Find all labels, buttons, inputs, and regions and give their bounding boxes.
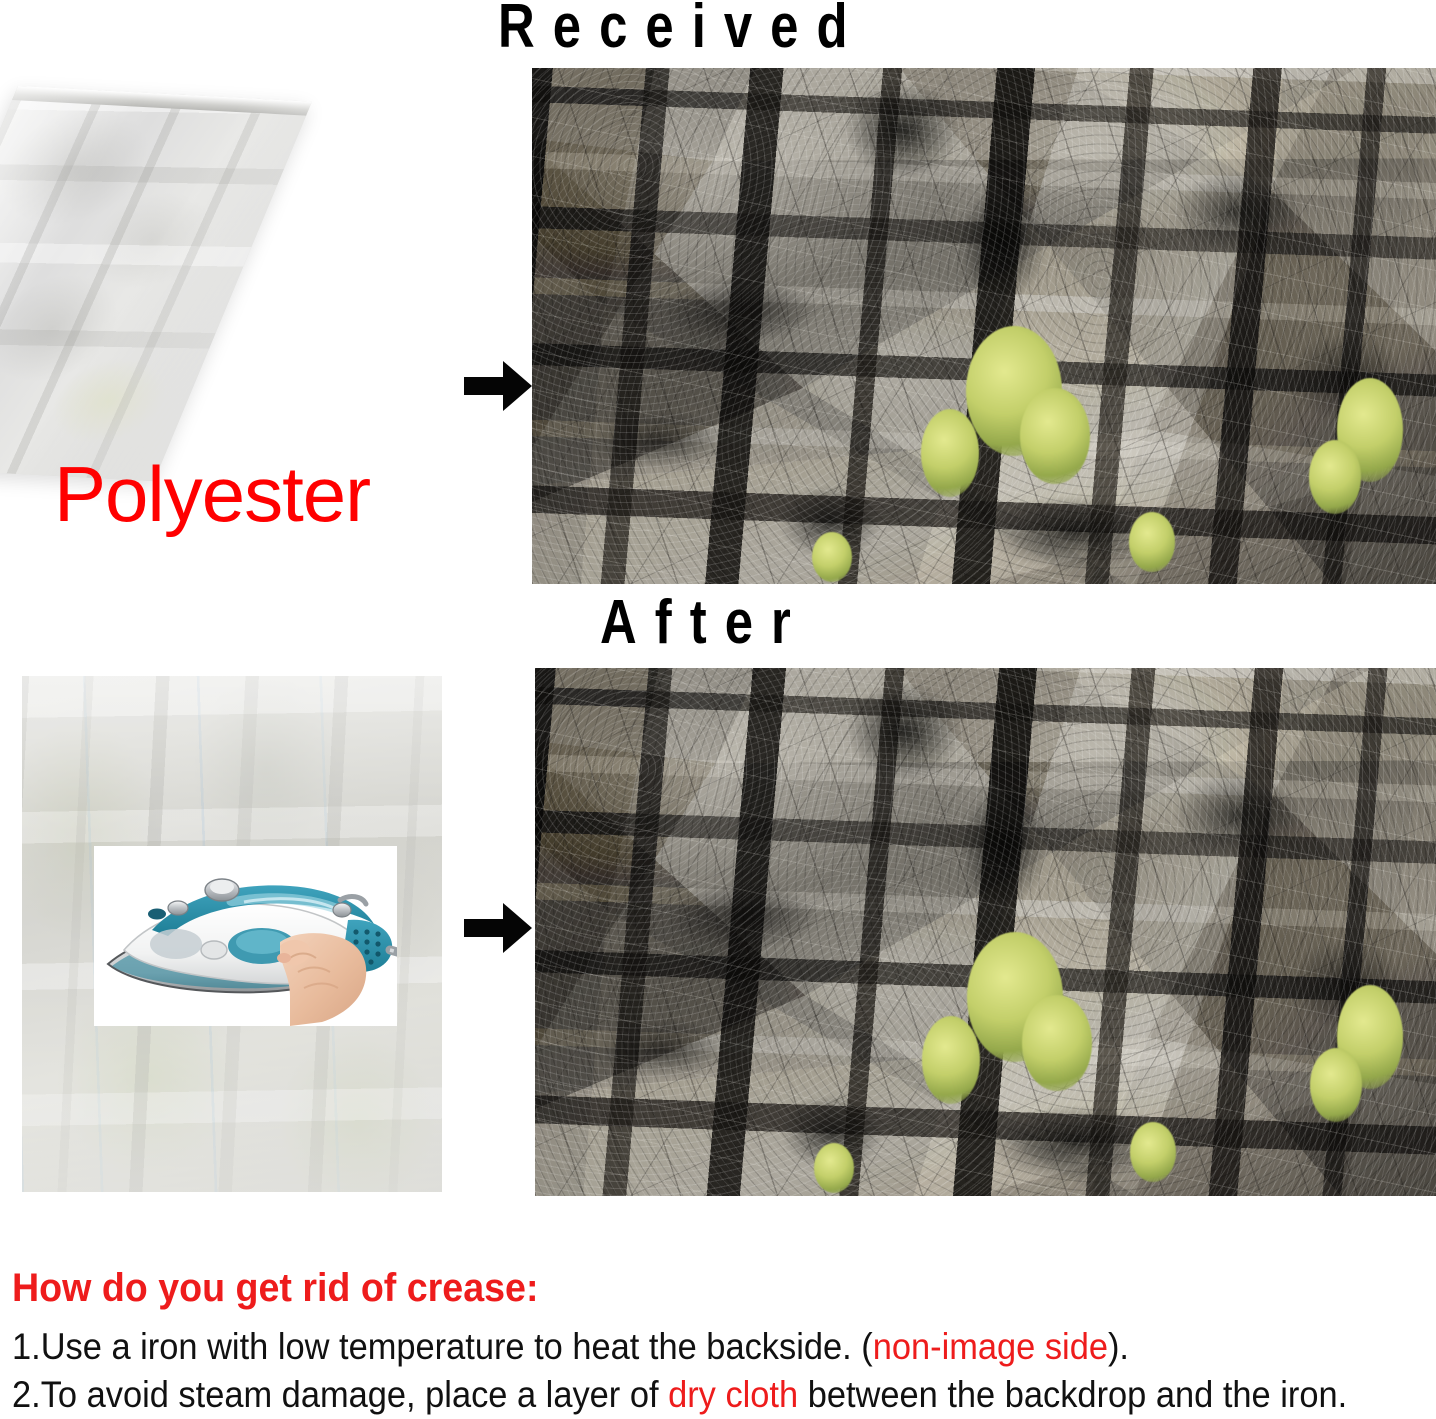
- fabric-fold: [0, 86, 312, 481]
- instruction-2-text-a: To avoid steam damage, place a layer of: [41, 1374, 668, 1415]
- iron-button: [168, 901, 188, 915]
- steam-iron-icon: [94, 846, 397, 1026]
- rock-grain-texture: [535, 668, 1436, 1196]
- iron-photo-inset: [94, 846, 397, 1026]
- fabric-sheen: [0, 86, 312, 481]
- instruction-line-1: 1.Use a iron with low temperature to hea…: [12, 1323, 1336, 1371]
- iron-steam-dial: [201, 941, 227, 959]
- instruction-2-text-b: between the backdrop and the iron.: [798, 1374, 1347, 1415]
- instruction-1-text-a: Use a iron with low temperature to heat …: [41, 1326, 873, 1367]
- instruction-2-highlight: dry cloth: [668, 1374, 798, 1415]
- received-backdrop-photo: [532, 68, 1436, 584]
- instruction-1-text-b: ).: [1108, 1326, 1129, 1367]
- instruction-2-number: 2.: [12, 1374, 41, 1415]
- arrow-right-icon: [462, 900, 534, 956]
- instruction-1-highlight: non-image side: [873, 1326, 1108, 1367]
- care-instructions: How do you get rid of crease: 1.Use a ir…: [12, 1266, 1436, 1419]
- polyester-label: Polyester: [54, 455, 370, 533]
- polyester-fabric-sample: [18, 86, 438, 486]
- ironing-demo-scene: [22, 676, 442, 1192]
- after-heading: After: [600, 592, 809, 654]
- instruction-line-2: 2.To avoid steam damage, place a layer o…: [12, 1371, 1336, 1419]
- instruction-1-number: 1.: [12, 1326, 41, 1367]
- instructions-title: How do you get rid of crease:: [12, 1266, 1351, 1311]
- received-heading: Received: [498, 0, 866, 58]
- rock-grain-texture: [532, 68, 1436, 584]
- hand-icon: [277, 933, 366, 1026]
- arrow-right-icon: [462, 358, 534, 414]
- after-backdrop-photo: [535, 668, 1436, 1196]
